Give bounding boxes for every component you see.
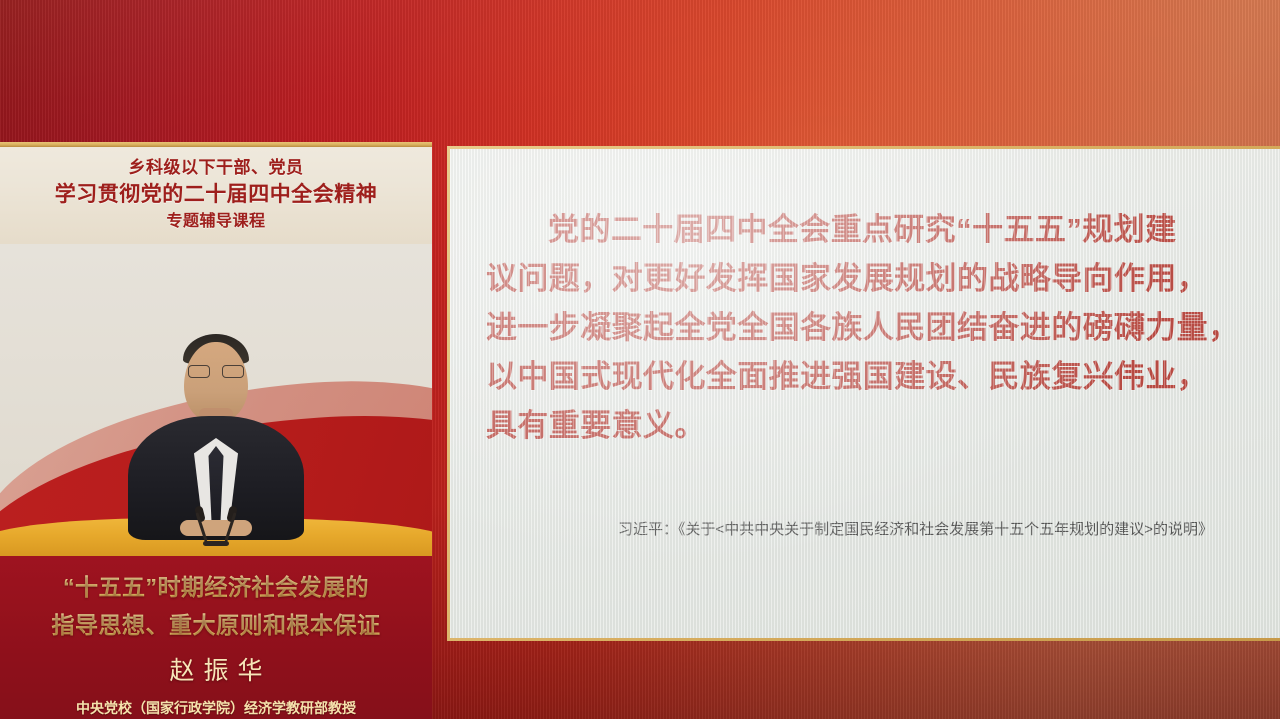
slide-citation: 习近平：《关于<中共中央关于制定国民经济和社会发展第十五个五年规划的建议>的说明… — [618, 519, 1280, 541]
course-header-line3: 专题辅导课程 — [0, 209, 432, 234]
course-header-line1: 乡科级以下干部、党员 — [0, 156, 432, 180]
slide-line-3: 进一步凝聚起全党全国各族人民团结奋进的磅礴力量， — [486, 303, 1276, 352]
microphone-icon — [190, 506, 242, 546]
slide-line-2: 议问题，对更好发挥国家发展规划的战略导向作用， — [486, 254, 1276, 303]
glasses-icon — [188, 365, 244, 378]
slide-body: 党的二十届四中全会重点研究“十五五”规划建 议问题，对更好发挥国家发展规划的战略… — [450, 149, 1280, 450]
lecture-title-line1: “十五五”时期经济社会发展的 — [0, 568, 432, 606]
slide-line-1: 党的二十届四中全会重点研究“十五五”规划建 — [486, 205, 1276, 254]
speaker-affiliation: 中央党校（国家行政学院）经济学教研部教授 — [0, 699, 432, 717]
speaker-name: 赵振华 — [0, 657, 432, 687]
course-header-line2: 学习贯彻党的二十届四中全会精神 — [0, 180, 432, 209]
speaker-figure — [121, 344, 311, 540]
left-panel: 乡科级以下干部、党员 学习贯彻党的二十届四中全会精神 专题辅导课程 — [0, 142, 432, 719]
slide-line-5: 具有重要意义。 — [486, 401, 1276, 450]
panel-top-gold-rule — [0, 142, 432, 147]
speaker-video[interactable] — [0, 244, 432, 556]
screen-stage: 乡科级以下干部、党员 学习贯彻党的二十届四中全会精神 专题辅导课程 — [0, 0, 1280, 719]
lecture-banner: “十五五”时期经济社会发展的 指导思想、重大原则和根本保证 赵振华 中央党校（国… — [0, 556, 432, 719]
presentation-slide[interactable]: 党的二十届四中全会重点研究“十五五”规划建 议问题，对更好发挥国家发展规划的战略… — [447, 146, 1280, 641]
lecture-title-line2: 指导思想、重大原则和根本保证 — [0, 606, 432, 644]
slide-line-4: 以中国式现代化全面推进强国建设、民族复兴伟业， — [486, 352, 1276, 401]
course-header: 乡科级以下干部、党员 学习贯彻党的二十届四中全会精神 专题辅导课程 — [0, 147, 432, 244]
